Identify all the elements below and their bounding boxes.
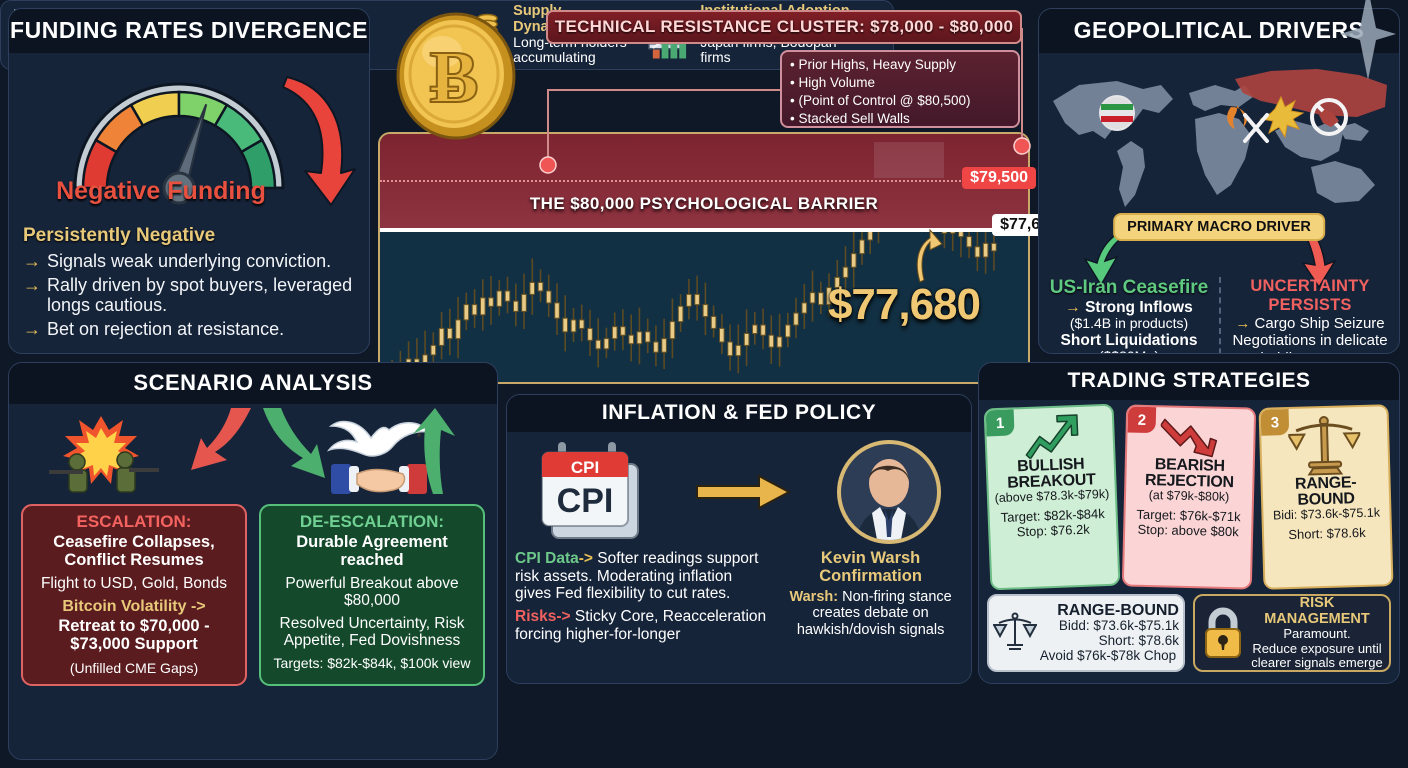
geo-left-heading: US-Iran Ceasefire xyxy=(1045,277,1213,299)
escalation-gold-line: Bitcoin Volatility -> xyxy=(31,598,237,616)
arrow-icon: → xyxy=(1065,299,1081,316)
trading-bottom-row: RANGE-BOUND Bidd: $73.6k-$75.1k Short: $… xyxy=(987,594,1391,672)
cpi-body-text: CPI xyxy=(557,482,614,520)
card-number: 1 xyxy=(986,409,1015,436)
geo-col-right: UNCERTAINTY PERSISTS → Cargo Ship Seizur… xyxy=(1219,277,1399,354)
inflation-body: CPI CPI xyxy=(507,432,971,670)
infographic-root: FUNDING RATES DIVERGENCE xyxy=(0,0,1408,768)
geo-left-note-2: ($$30M+) xyxy=(1045,349,1213,354)
inflation-left-text: CPI Data-> Softer readings support risk … xyxy=(515,550,770,643)
escalation-small: (Unfilled CME Gaps) xyxy=(31,660,237,676)
geo-left-note-1: ($1.4B in products) xyxy=(1045,316,1213,332)
range-bound-line-1: Bidd: $73.6k-$75.1k xyxy=(1037,619,1179,634)
risk-management-text: RISK MANAGEMENT Paramount. Reduce exposu… xyxy=(1250,595,1384,671)
list-item: → Bet on rejection at resistance. xyxy=(23,319,355,339)
gauge-wrap: Negative Funding xyxy=(23,59,355,217)
warsh-label: Warsh: xyxy=(789,589,838,605)
geo-columns: US-Iran Ceasefire → Strong Inflows ($1.4… xyxy=(1039,277,1399,354)
lock-icon xyxy=(1200,605,1246,661)
scenario-icons xyxy=(19,408,487,504)
trading-card-bearish[interactable]: 2 BEARISH REJECTION (at $79k-$80k) Targe… xyxy=(1122,404,1256,589)
warsh-paragraph: Warsh: Non-firing stance creates debate … xyxy=(778,589,963,639)
deescalation-heading: DE-ESCALATION: xyxy=(269,512,475,532)
trading-card-bullish[interactable]: 1 BULLISH BREAKOUT (above $78.3k-$79k) T… xyxy=(984,404,1121,591)
funding-title: FUNDING RATES DIVERGENCE xyxy=(9,9,369,53)
scenario-title: SCENARIO ANALYSIS xyxy=(9,363,497,404)
psychological-barrier-label: THE $80,000 PSYCHOLOGICAL BARRIER xyxy=(380,194,1028,214)
list-item: → Rally driven by spot buyers, leveraged… xyxy=(23,275,355,315)
panel-inflation-fed-policy: INFLATION & FED POLICY CPI CPI xyxy=(506,394,972,684)
geo-right-line-2: Negotiations in delicate xyxy=(1227,332,1393,349)
geo-right-line-3: holding pattern xyxy=(1227,350,1393,354)
inflation-top-row: CPI CPI xyxy=(515,436,963,548)
supply-shade-box xyxy=(874,142,944,178)
cpi-arrow: -> xyxy=(579,550,593,567)
arrow-icon: → xyxy=(23,251,41,271)
range-bound-box: RANGE-BOUND Bidd: $73.6k-$75.1k Short: $… xyxy=(987,594,1185,672)
cpi-calendar-icon: CPI CPI xyxy=(536,438,652,546)
risks-paragraph: Risks-> Sticky Core, Reacceleration forc… xyxy=(515,608,770,643)
range-bound-footer: Avoid $76k-$78k Chop xyxy=(1037,648,1179,663)
arrow-icon: → xyxy=(1235,315,1250,332)
card-title: RANGE-BOUND xyxy=(1266,474,1385,509)
geo-col-left: US-Iran Ceasefire → Strong Inflows ($1.4… xyxy=(1039,277,1219,354)
escalation-bold-2: Retreat to $70,000 - $73,000 Support xyxy=(31,617,237,653)
scenario-cards: ESCALATION: Ceasefire Collapses, Conflic… xyxy=(19,504,487,686)
funding-headline: Persistently Negative xyxy=(23,225,355,247)
person-name: Kevin Warsh Confirmation xyxy=(778,550,963,586)
panel-scenario-analysis: SCENARIO ANALYSIS xyxy=(8,362,498,760)
kevin-warsh-avatar xyxy=(836,439,942,545)
scenario-card-deescalation: DE-ESCALATION: Durable Agreement reached… xyxy=(259,504,485,686)
escalation-heading: ESCALATION: xyxy=(31,512,237,532)
geo-left-bold-1-text: Strong Inflows xyxy=(1085,299,1193,316)
trading-card-range[interactable]: 3 RANGE-BOUND Bidi: $73.6k- xyxy=(1258,404,1393,590)
list-item-text: Signals weak underlying conviction. xyxy=(47,251,331,271)
trading-title: TRADING STRATEGIES xyxy=(979,363,1399,400)
geo-left-bold-1: → Strong Inflows xyxy=(1045,299,1213,316)
geo-left-bold-2: Short Liquidations xyxy=(1045,332,1213,349)
risk-management-box: RISK MANAGEMENT Paramount. Reduce exposu… xyxy=(1193,594,1391,672)
inflation-columns: CPI Data-> Softer readings support risk … xyxy=(515,550,963,643)
range-bound-text: RANGE-BOUND Bidd: $73.6k-$75.1k Short: $… xyxy=(1037,603,1179,664)
card-sub: (above $78.3k-$79k) xyxy=(993,488,1111,506)
range-bound-line-2: Short: $78.6k xyxy=(1037,634,1179,649)
cpi-paragraph: CPI Data-> Softer readings support risk … xyxy=(515,550,770,603)
risk-management-body: Paramount. Reduce exposure until clearer… xyxy=(1250,627,1384,671)
list-item: • (Point of Control @ $80,500) xyxy=(790,92,1010,110)
card-data: Target: $82k-$84k Stop: $76.2k xyxy=(994,507,1113,540)
card-data: Short: $78.6k xyxy=(1268,526,1386,544)
escalation-line-1: Flight to USD, Gold, Bonds xyxy=(31,575,237,592)
resistance-bullets-callout: • Prior Highs, Heavy Supply • High Volum… xyxy=(780,50,1020,128)
card-title: BULLISH BREAKOUT xyxy=(992,456,1111,492)
card-title: BEARISH REJECTION xyxy=(1130,457,1249,491)
risk-management-heading: RISK MANAGEMENT xyxy=(1250,595,1384,627)
geo-right-line-1: → Cargo Ship Seizure xyxy=(1227,315,1393,332)
geo-right-heading: UNCERTAINTY PERSISTS xyxy=(1227,277,1393,315)
geo-right-line-1-text: Cargo Ship Seizure xyxy=(1255,315,1385,332)
scales-small-icon xyxy=(993,611,1037,655)
resistance-price-tag: $79,500 xyxy=(962,167,1036,189)
risks-label: Risks xyxy=(515,608,556,625)
trading-body: 1 BULLISH BREAKOUT (above $78.3k-$79k) T… xyxy=(979,400,1399,670)
funding-bullets: → Signals weak underlying conviction. → … xyxy=(23,251,355,340)
scenario-card-escalation: ESCALATION: Ceasefire Collapses, Conflic… xyxy=(21,504,247,686)
deescalation-line-1: Powerful Breakout above $80,000 xyxy=(269,575,475,609)
svg-text:Ƀ: Ƀ xyxy=(429,37,478,119)
current-price-big: $77,680 xyxy=(828,280,980,330)
card-data: Target: $76k-$71k Stop: above $80k xyxy=(1129,508,1248,539)
range-bound-heading: RANGE-BOUND xyxy=(1037,603,1179,619)
arrow-icon: → xyxy=(23,275,41,315)
deescalation-small: Targets: $82k-$84k, $100k view xyxy=(269,655,475,671)
deescalation-line-2: Resolved Uncertainty, Risk Appetite, Fed… xyxy=(269,615,475,649)
inflation-right-text: Kevin Warsh Confirmation Warsh: Non-firi… xyxy=(778,550,963,643)
negative-funding-label: Negative Funding xyxy=(23,177,299,206)
list-item: • High Volume xyxy=(790,74,1010,92)
trend-up-icon xyxy=(1019,413,1081,459)
panel-price-chart: THE $80,000 PSYCHOLOGICAL BARRIER $77,68… xyxy=(378,132,1030,384)
gold-arrow-right-icon xyxy=(695,472,793,512)
trading-cards: 1 BULLISH BREAKOUT (above $78.3k-$79k) T… xyxy=(987,406,1391,588)
card-sub: Bidi: $73.6k-$75.1k xyxy=(1267,507,1385,523)
list-item: • Stacked Sell Walls xyxy=(790,110,1010,128)
list-item: → Signals weak underlying conviction. xyxy=(23,251,355,271)
bitcoin-coin-icon: Ƀ xyxy=(392,12,520,140)
panel-trading-strategies: TRADING STRATEGIES 1 BULLISH BREAKOUT (a… xyxy=(978,362,1400,684)
arrow-icon: → xyxy=(23,319,41,339)
cpi-top-text: CPI xyxy=(571,458,599,477)
card-number: 3 xyxy=(1261,409,1290,436)
cpi-data-label: CPI Data xyxy=(515,550,579,567)
trend-down-icon xyxy=(1160,413,1221,458)
list-item-text: Bet on rejection at resistance. xyxy=(47,319,284,339)
list-item: • Prior Highs, Heavy Supply xyxy=(790,56,1010,74)
panel-funding-rates: FUNDING RATES DIVERGENCE xyxy=(8,8,370,354)
up-arrow-gold-icon xyxy=(912,228,946,284)
list-item-text: Rally driven by spot buyers, leveraged l… xyxy=(47,275,355,315)
escalation-bold: Ceasefire Collapses, Conflict Resumes xyxy=(31,533,237,569)
scenario-body: ESCALATION: Ceasefire Collapses, Conflic… xyxy=(9,404,497,752)
resistance-cluster-banner: TECHNICAL RESISTANCE CLUSTER: $78,000 - … xyxy=(546,10,1022,44)
card-number: 2 xyxy=(1128,406,1157,433)
deescalation-bold: Durable Agreement reached xyxy=(269,533,475,569)
funding-body: Negative Funding Persistently Negative →… xyxy=(9,53,369,347)
risks-arrow: -> xyxy=(556,608,570,625)
primary-macro-driver-chip: PRIMARY MACRO DRIVER xyxy=(1113,213,1325,241)
scenario-split-arrows-icon xyxy=(19,408,498,504)
card-sub: (at $79k-$80k) xyxy=(1130,489,1248,505)
scales-icon xyxy=(1288,413,1362,477)
inflation-title: INFLATION & FED POLICY xyxy=(507,395,971,432)
chart-clip: THE $80,000 PSYCHOLOGICAL BARRIER $77,68… xyxy=(380,134,1028,382)
geo-body: PRIMARY MACRO DRIVER US-Iran Ceasefire →… xyxy=(1039,53,1399,347)
